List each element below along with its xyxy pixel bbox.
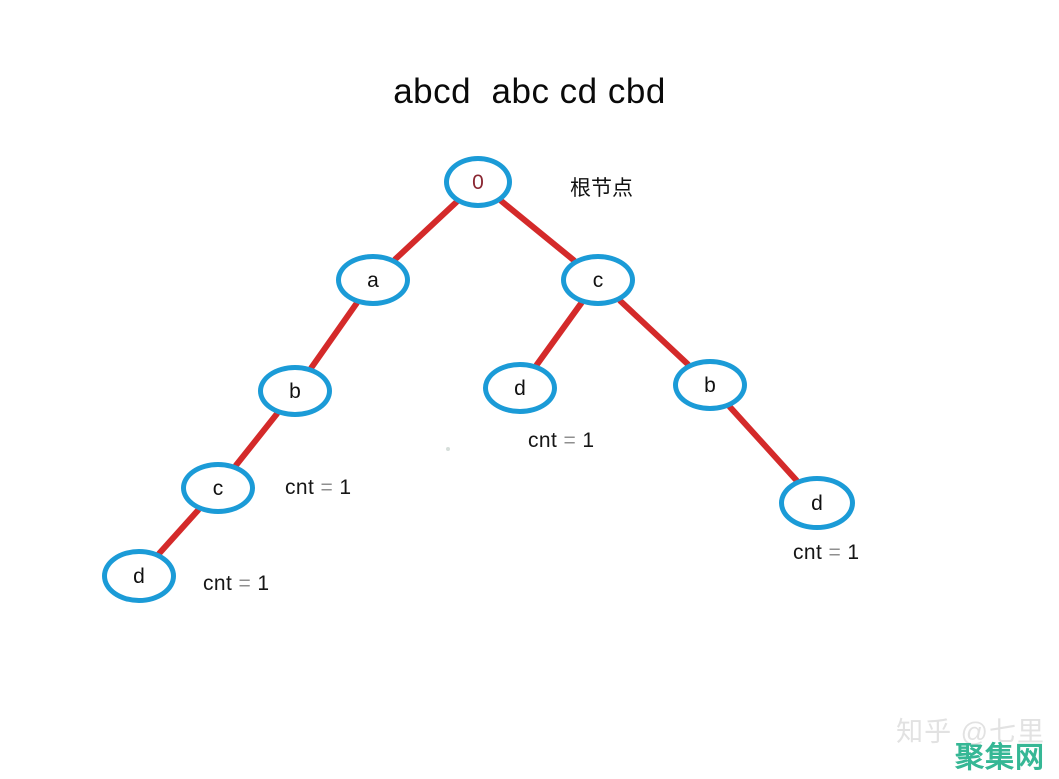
tree-edge-b2-d2 [730,407,797,480]
counter-label-d1: cnt = 1 [528,429,594,453]
tree-node-d2[interactable]: d [779,476,855,530]
watermark-site: 聚集网 [896,743,1045,773]
tree-node-label: c [213,478,224,499]
tree-node-root[interactable]: 0 [444,156,512,208]
tree-node-d3[interactable]: d [102,549,176,603]
tree-edge-b1-c2 [236,414,277,466]
counter-value: 1 [576,429,594,452]
diagram-canvas: abcd abc cd cbd 0acbdbcdd cnt = 1cnt = 1… [0,0,1059,779]
tree-edge-c1-d1 [537,303,582,365]
counter-label-d3: cnt = 1 [203,572,269,596]
tree-node-label: c [593,270,604,291]
watermark: 知乎 @七里 聚集网 [896,718,1045,773]
counter-equals-sign: = [563,429,576,452]
tree-node-a1[interactable]: a [336,254,410,306]
counter-equals-sign: = [320,476,333,499]
tree-node-label: d [133,566,145,587]
annotation-root_note: 根节点 [570,172,633,202]
counter-prefix: cnt [793,541,828,564]
counter-equals-sign: = [238,572,251,595]
counter-equals-sign: = [828,541,841,564]
counter-value: 1 [251,572,269,595]
counter-value: 1 [333,476,351,499]
tree-edge-c1-b2 [620,301,688,364]
tree-edge-c2-d3 [159,510,198,553]
tree-node-b2[interactable]: b [673,359,747,411]
counter-prefix: cnt [528,429,563,452]
counter-label-c2: cnt = 1 [285,476,351,500]
tree-node-c1[interactable]: c [561,254,635,306]
counter-prefix: cnt [203,572,238,595]
counter-prefix: cnt [285,476,320,499]
counter-label-d2: cnt = 1 [793,541,859,565]
tree-node-b1[interactable]: b [258,365,332,417]
tree-node-label: d [514,378,526,399]
tree-node-label: a [367,270,379,291]
tree-node-label: 0 [472,172,484,193]
counter-value: 1 [841,541,859,564]
tree-edge-root-a1 [395,202,456,259]
tree-node-c2[interactable]: c [181,462,255,514]
tree-edge-root-c1 [501,201,574,260]
tree-node-label: b [289,381,301,402]
tree-node-d1[interactable]: d [483,362,557,414]
stray-speck [446,447,450,451]
tree-node-label: d [811,493,823,514]
tree-edge-a1-b1 [311,303,356,367]
tree-node-label: b [704,375,716,396]
